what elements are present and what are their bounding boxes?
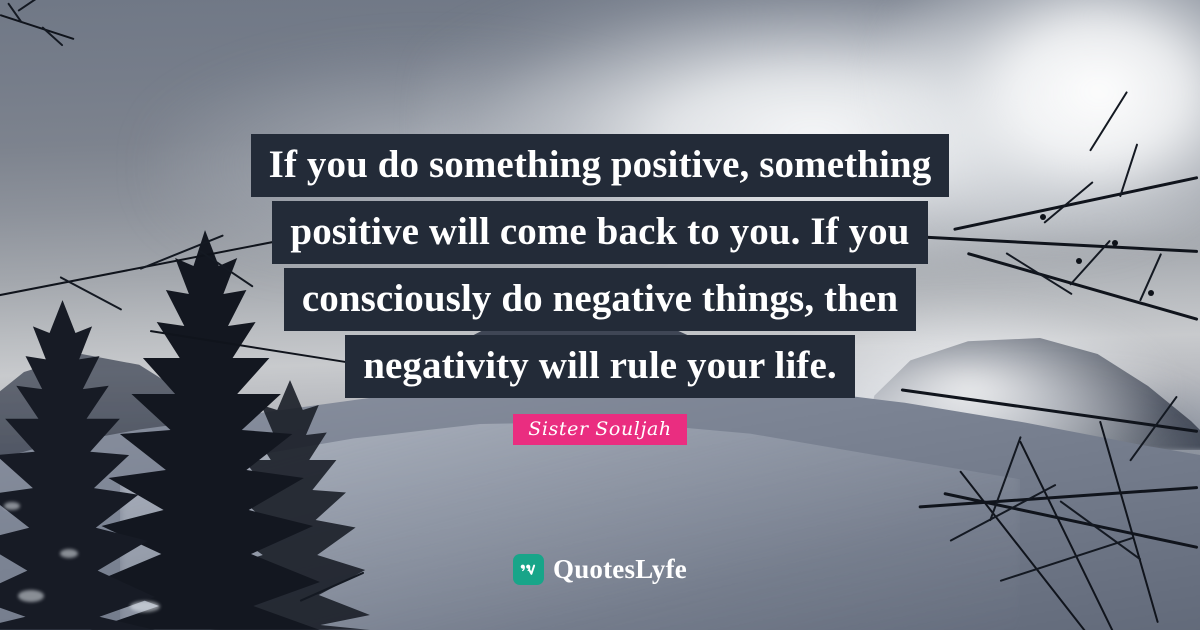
branch [0, 14, 74, 40]
quote-line-2: positive will come back to you. If you [272, 201, 927, 264]
branch [1099, 421, 1159, 623]
quote-line-4: negativity will rule your life. [345, 335, 855, 398]
quote-check-icon [513, 554, 544, 585]
quote-line-1: If you do something positive, something [251, 134, 950, 197]
author-attribution: Sister Souljah [0, 414, 1200, 445]
author-badge: Sister Souljah [513, 414, 686, 445]
twig [17, 0, 46, 12]
quote-line-3: consciously do negative things, then [284, 268, 916, 331]
quote-text-block: If you do something positive, something … [0, 134, 1200, 402]
brand-logo[interactable]: QuotesLyfe [0, 554, 1200, 585]
brand-name: QuotesLyfe [553, 556, 687, 583]
twig [41, 26, 63, 46]
quote-card: If you do something positive, something … [0, 0, 1200, 630]
